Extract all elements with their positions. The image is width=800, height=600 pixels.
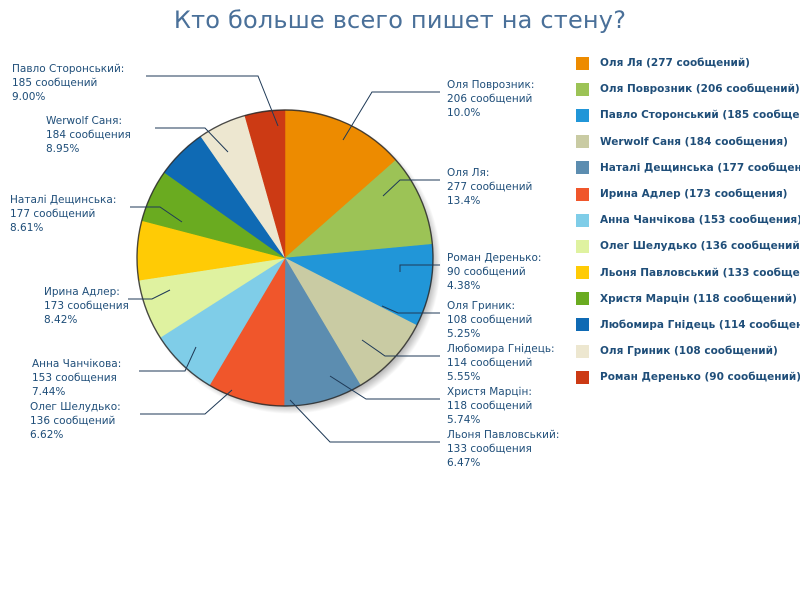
legend-item-label: Любомира Гнідець (114 сообщений) xyxy=(600,319,800,331)
callout-value: 153 сообщения xyxy=(32,371,121,385)
callout-name: Павло Сторонський: xyxy=(12,62,124,76)
legend-item-label: Ирина Адлер (173 сообщения) xyxy=(600,188,787,200)
legend-color-swatch xyxy=(576,57,589,70)
callout-value: 184 сообщения xyxy=(46,128,131,142)
legend-item[interactable]: Христя Марцін (118 сообщений) xyxy=(576,286,800,312)
callout-name: Анна Чанчікова: xyxy=(32,357,121,371)
legend-color-swatch xyxy=(576,188,589,201)
legend-item[interactable]: Павло Сторонський (185 сообщений) xyxy=(576,102,800,128)
callout-percent: 6.62% xyxy=(30,428,121,442)
callout-percent: 4.38% xyxy=(447,279,541,293)
slice-callout-label: Христя Марцін:118 сообщений5.74% xyxy=(447,385,532,427)
callout-percent: 6.47% xyxy=(447,456,559,470)
chart-legend: Оля Ля (277 сообщений)Оля Поврозник (206… xyxy=(576,50,800,390)
legend-item-label: Христя Марцін (118 сообщений) xyxy=(600,293,797,305)
legend-item[interactable]: Наталі Дещинська (177 сообщений) xyxy=(576,155,800,181)
callout-percent: 8.95% xyxy=(46,142,131,156)
slice-callout-label: Олег Шелудько:136 сообщений6.62% xyxy=(30,400,121,442)
slice-callout-label: Оля Ля:277 сообщений13.4% xyxy=(447,166,532,208)
legend-item-label: Оля Гриник (108 сообщений) xyxy=(600,345,778,357)
legend-color-swatch xyxy=(576,292,589,305)
legend-item[interactable]: Ирина Адлер (173 сообщения) xyxy=(576,181,800,207)
callout-percent: 9.00% xyxy=(12,90,124,104)
callout-percent: 13.4% xyxy=(447,194,532,208)
legend-item[interactable]: Оля Поврозник (206 сообщений) xyxy=(576,76,800,102)
slice-callout-label: Льоня Павловський:133 сообщения6.47% xyxy=(447,428,559,470)
legend-item[interactable]: Оля Гриник (108 сообщений) xyxy=(576,338,800,364)
callout-value: 177 сообщений xyxy=(10,207,116,221)
legend-color-swatch xyxy=(576,345,589,358)
callout-value: 90 сообщений xyxy=(447,265,541,279)
legend-color-swatch xyxy=(576,109,589,122)
slice-callout-label: Werwolf Саня:184 сообщения8.95% xyxy=(46,114,131,156)
callout-value: 206 сообщений xyxy=(447,92,534,106)
slice-callout-label: Роман Деренько:90 сообщений4.38% xyxy=(447,251,541,293)
legend-item[interactable]: Любомира Гнідець (114 сообщений) xyxy=(576,312,800,338)
pie-slices xyxy=(137,110,433,406)
legend-item-label: Павло Сторонський (185 сообщений) xyxy=(600,109,800,121)
legend-item-label: Оля Ля (277 сообщений) xyxy=(600,57,750,69)
legend-item-label: Анна Чанчікова (153 сообщения) xyxy=(600,214,800,226)
callout-value: 114 сообщений xyxy=(447,356,555,370)
legend-color-swatch xyxy=(576,318,589,331)
callout-percent: 7.44% xyxy=(32,385,121,399)
callout-name: Werwolf Саня: xyxy=(46,114,131,128)
callout-percent: 5.25% xyxy=(447,327,532,341)
slice-callout-label: Оля Гриник:108 сообщений5.25% xyxy=(447,299,532,341)
callout-value: 277 сообщений xyxy=(447,180,532,194)
callout-value: 136 сообщений xyxy=(30,414,121,428)
callout-name: Оля Поврозник: xyxy=(447,78,534,92)
callout-percent: 5.74% xyxy=(447,413,532,427)
callout-value: 133 сообщения xyxy=(447,442,559,456)
callout-percent: 5.55% xyxy=(447,370,555,384)
legend-item-label: Роман Деренько (90 сообщений) xyxy=(600,371,800,383)
slice-callout-label: Ирина Адлер:173 сообщения8.42% xyxy=(44,285,129,327)
legend-color-swatch xyxy=(576,371,589,384)
legend-item-label: Оля Поврозник (206 сообщений) xyxy=(600,83,800,95)
callout-percent: 10.0% xyxy=(447,106,534,120)
legend-item[interactable]: Анна Чанчікова (153 сообщения) xyxy=(576,207,800,233)
slice-callout-label: Наталі Дещинська:177 сообщений8.61% xyxy=(10,193,116,235)
callout-percent: 8.61% xyxy=(10,221,116,235)
slice-callout-label: Павло Сторонський:185 сообщений9.00% xyxy=(12,62,124,104)
legend-item[interactable]: Олег Шелудько (136 сообщений) xyxy=(576,233,800,259)
legend-color-swatch xyxy=(576,214,589,227)
callout-percent: 8.42% xyxy=(44,313,129,327)
legend-item-label: Олег Шелудько (136 сообщений) xyxy=(600,240,800,252)
legend-color-swatch xyxy=(576,135,589,148)
callout-name: Любомира Гнідець: xyxy=(447,342,555,356)
legend-item-label: Наталі Дещинська (177 сообщений) xyxy=(600,162,800,174)
callout-value: 173 сообщения xyxy=(44,299,129,313)
callout-value: 108 сообщений xyxy=(447,313,532,327)
callout-value: 118 сообщений xyxy=(447,399,532,413)
callout-name: Роман Деренько: xyxy=(447,251,541,265)
slice-callout-label: Анна Чанчікова:153 сообщения7.44% xyxy=(32,357,121,399)
legend-color-swatch xyxy=(576,240,589,253)
callout-name: Наталі Дещинська: xyxy=(10,193,116,207)
slice-callout-label: Оля Поврозник:206 сообщений10.0% xyxy=(447,78,534,120)
callout-value: 185 сообщений xyxy=(12,76,124,90)
legend-item[interactable]: Роман Деренько (90 сообщений) xyxy=(576,364,800,390)
legend-color-swatch xyxy=(576,266,589,279)
callout-name: Оля Гриник: xyxy=(447,299,532,313)
legend-item-label: Werwolf Саня (184 сообщения) xyxy=(600,136,788,148)
legend-item[interactable]: Оля Ля (277 сообщений) xyxy=(576,50,800,76)
slice-callout-label: Любомира Гнідець:114 сообщений5.55% xyxy=(447,342,555,384)
callout-name: Оля Ля: xyxy=(447,166,532,180)
legend-color-swatch xyxy=(576,161,589,174)
legend-item-label: Льоня Павловський (133 сообщения) xyxy=(600,267,800,279)
callout-name: Ирина Адлер: xyxy=(44,285,129,299)
legend-color-swatch xyxy=(576,83,589,96)
callout-name: Христя Марцін: xyxy=(447,385,532,399)
callout-name: Олег Шелудько: xyxy=(30,400,121,414)
legend-item[interactable]: Werwolf Саня (184 сообщения) xyxy=(576,129,800,155)
callout-name: Льоня Павловський: xyxy=(447,428,559,442)
legend-item[interactable]: Льоня Павловський (133 сообщения) xyxy=(576,260,800,286)
pie-chart-page: Кто больше всего пишет на стену? Павло С… xyxy=(0,0,800,600)
